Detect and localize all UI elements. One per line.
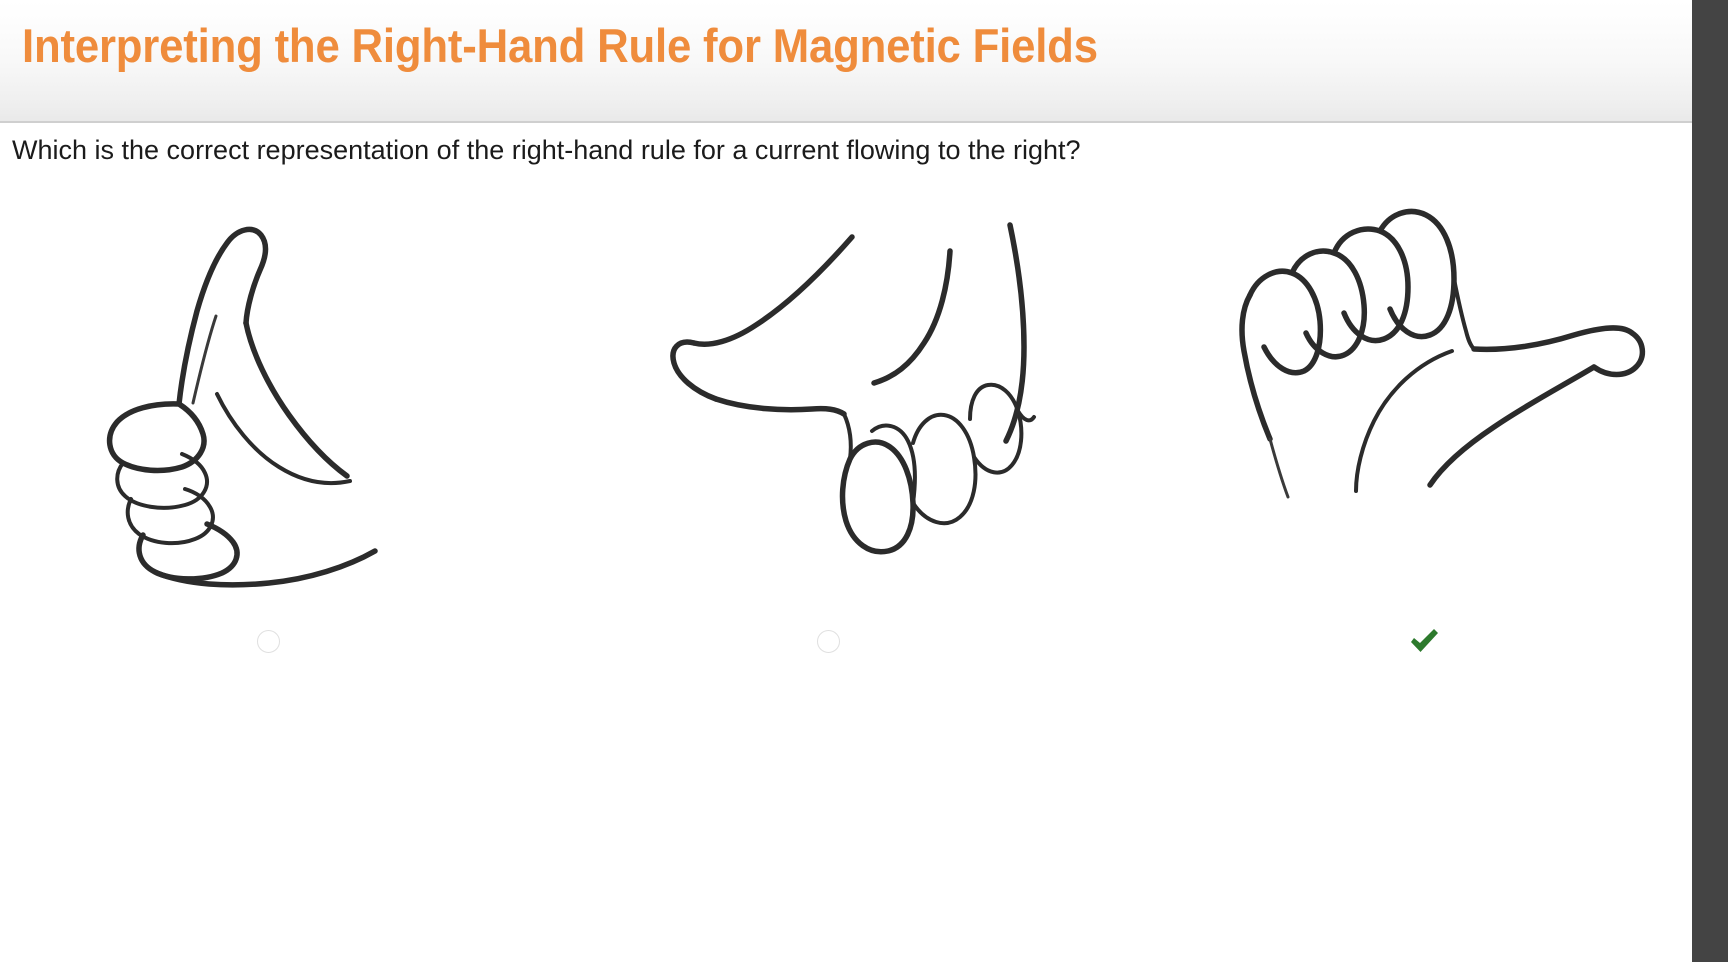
answer-choice-list [0, 185, 1692, 705]
hand-thumb-left-illustration [606, 195, 1066, 625]
answer-choice-2[interactable] [564, 185, 1128, 705]
question-prompt: Which is the correct representation of t… [12, 134, 1081, 168]
slide-page: Interpreting the Right-Hand Rule for Mag… [0, 0, 1692, 962]
answer-control-1[interactable] [248, 621, 288, 661]
answer-choice-1[interactable] [0, 185, 564, 705]
hand-thumb-up-illustration [17, 171, 477, 601]
answer-control-2[interactable] [808, 621, 848, 661]
hand-thumb-right-illustration [1208, 199, 1668, 629]
page-title: Interpreting the Right-Hand Rule for Mag… [22, 20, 1098, 72]
answer-radio-1[interactable] [257, 630, 280, 653]
answer-correct-check-3[interactable] [1407, 624, 1441, 658]
question-content: Which is the correct representation of t… [0, 123, 1692, 962]
answer-choice-3[interactable] [1128, 185, 1692, 705]
right-gutter [1692, 0, 1728, 962]
answer-radio-2[interactable] [817, 630, 840, 653]
answer-control-3[interactable] [1404, 621, 1444, 661]
app-frame: Interpreting the Right-Hand Rule for Mag… [0, 0, 1728, 962]
page-header: Interpreting the Right-Hand Rule for Mag… [0, 0, 1692, 123]
